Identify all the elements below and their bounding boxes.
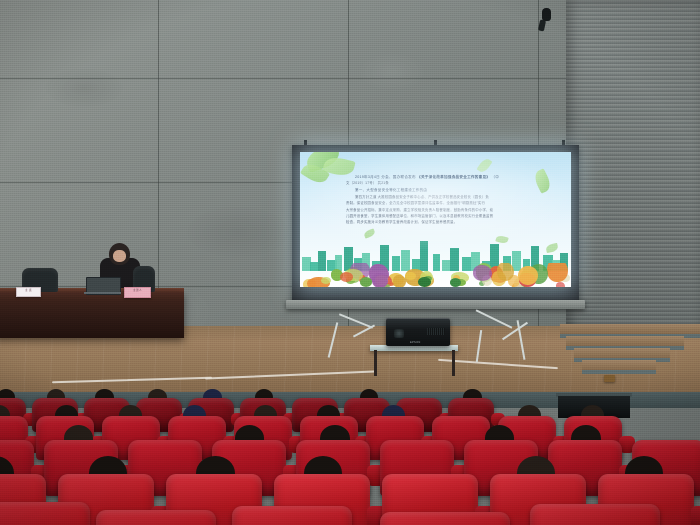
nameplate-right-text: 主讲人 <box>125 288 150 294</box>
nameplate-right: 主讲人 <box>124 287 151 298</box>
leaf-icon <box>477 157 493 174</box>
food-item <box>473 265 492 281</box>
nameplate-left: 主 席 <box>16 287 41 297</box>
food-item <box>405 272 416 280</box>
slide-heading-1: 第一、大型食品安全等化工程建设工作的由 <box>346 187 552 195</box>
projector-brand-text: EPSON <box>410 341 421 344</box>
stage-step <box>566 336 684 346</box>
slide-title-document: 《关于深化改革加强食品安全工作的意见》 <box>417 175 490 179</box>
projector-device[interactable]: EPSON <box>386 318 450 346</box>
slide-title-prefix: 2019年3月4日 分会、国办联合发布 <box>355 175 416 179</box>
food-item <box>360 277 372 287</box>
projector-vent <box>427 328 445 335</box>
food-illustration-band <box>300 263 571 287</box>
stage-step <box>582 360 656 370</box>
slide-title-suffix: （中 <box>491 175 499 179</box>
slide-content: 2019年3月4日 分会、国办联合发布 《关于深化改革加强食品安全工作的意见》 … <box>300 152 571 287</box>
nameplate-left-text: 主 席 <box>17 288 40 294</box>
stage-step <box>560 324 700 334</box>
auditorium-photo: 2019年3月4日 分会、国办联合发布 《关于深化改革加强食品安全工作的意见》 … <box>0 0 700 525</box>
auditorium-seat[interactable] <box>96 510 216 525</box>
auditorium-seat[interactable] <box>232 506 352 525</box>
auditorium-seat[interactable] <box>380 512 510 525</box>
slide-body-5: 检查，同步实施对义务教育学生营养改善计划，保证学生营养餐质量。 <box>346 219 552 225</box>
seat-armrest <box>691 506 700 525</box>
projection-screen: 2019年3月4日 分会、国办联合发布 《关于深化改革加强食品安全工作的意见》 … <box>292 145 579 301</box>
food-item <box>372 273 388 287</box>
projector-lens-icon <box>394 329 404 338</box>
food-item <box>556 282 564 287</box>
screen-bottom-bar <box>286 300 585 309</box>
food-item <box>450 278 461 287</box>
camera-icon <box>538 8 554 34</box>
food-item <box>497 263 515 281</box>
food-item <box>518 266 538 285</box>
stage-step <box>574 348 670 358</box>
laptop-base <box>84 292 121 294</box>
presenter-face <box>113 250 126 262</box>
food-item <box>418 277 431 287</box>
slide-text-block: 2019年3月4日 分会、国办联合发布 《关于深化改革加强食品安全工作的意见》 … <box>346 174 552 225</box>
food-item <box>307 279 317 287</box>
head-table <box>0 292 184 338</box>
auditorium-seat[interactable] <box>0 502 90 525</box>
audience-area <box>0 370 700 525</box>
auditorium-seat[interactable] <box>530 504 660 525</box>
food-item <box>321 277 331 284</box>
